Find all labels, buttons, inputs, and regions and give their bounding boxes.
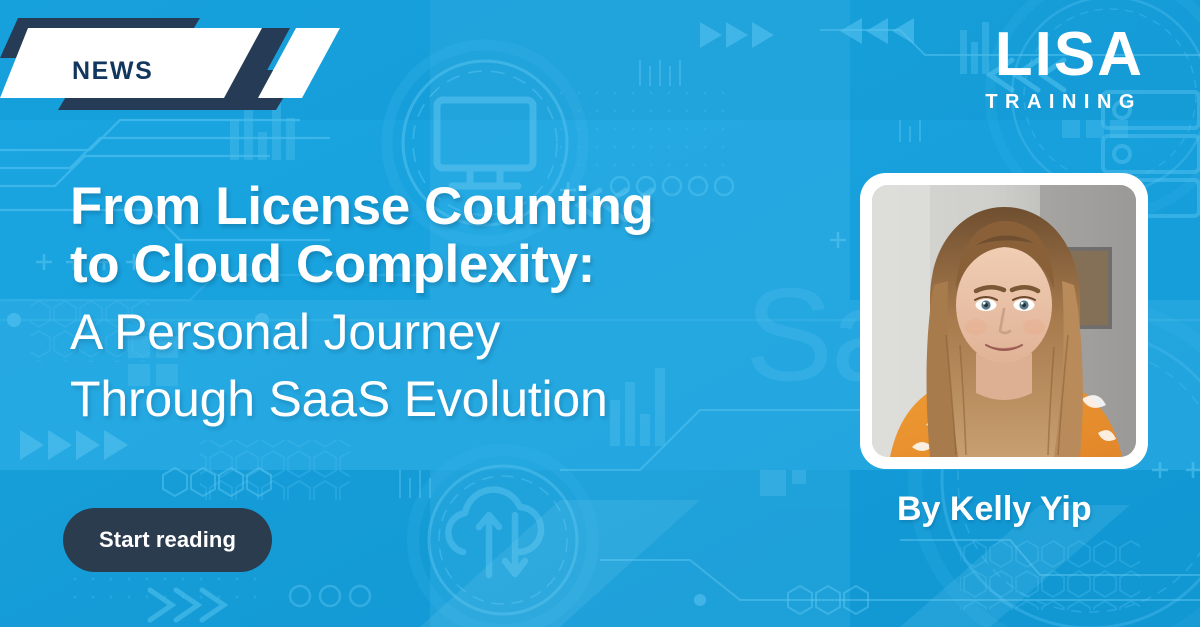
logo-subtitle: TRAINING [985, 91, 1142, 114]
subheadline-line-1: A Personal Journey [70, 304, 870, 362]
lisa-training-logo: LISA TRAINING [985, 26, 1144, 114]
logo-wordmark: LISA [985, 26, 1144, 85]
start-reading-button[interactable]: Start reading [63, 508, 272, 572]
author-portrait-photo [872, 185, 1136, 457]
news-banner: SaaS [0, 0, 1200, 627]
headline-line-2: to Cloud Complexity: [70, 236, 870, 294]
cloud-sync-icon [448, 490, 541, 575]
monitor-icon [437, 100, 533, 186]
subheadline-line-2: Through SaaS Evolution [70, 371, 870, 429]
author-portrait-frame [860, 173, 1148, 469]
headline-block: From License Counting to Cloud Complexit… [70, 178, 870, 429]
headline-line-1: From License Counting [70, 178, 870, 236]
author-byline: By Kelly Yip [897, 490, 1092, 529]
news-badge: NEWS [0, 18, 360, 110]
news-badge-label: NEWS [72, 59, 153, 84]
